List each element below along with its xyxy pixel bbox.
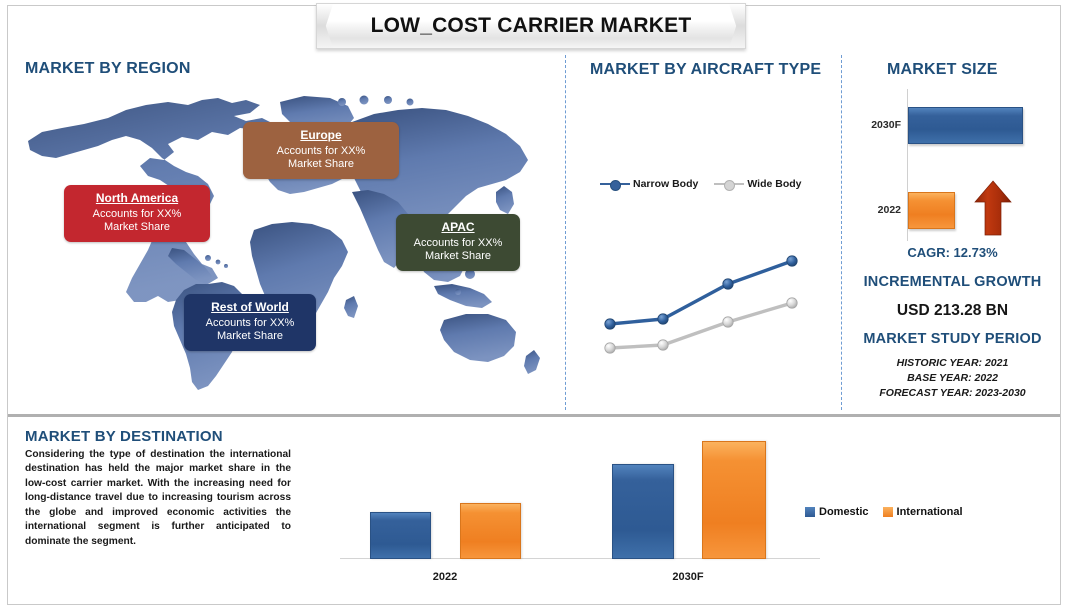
legend-marker-line-icon [600,179,630,189]
section-heading-market-by-aircraft-type: MARKET BY AIRCRAFT TYPE [590,61,821,79]
market-size-bar-label-2030f: 2030F [845,119,901,131]
callout-apac: APAC Accounts for XX% Market Share [396,214,520,271]
section-heading-market-by-destination: MARKET BY DESTINATION [25,428,223,445]
study-period-base-year: BASE YEAR: 2022 [845,372,1060,384]
destination-bar-chart: 2022 2030F [340,432,820,597]
cagr-value: CAGR: 12.73% [845,245,1060,260]
market-size-bar-label-2022: 2022 [845,204,901,216]
callout-line2: Market Share [406,250,510,263]
callout-line1: Accounts for XX% [194,317,306,330]
vertical-divider-right [841,55,842,410]
legend-swatch-icon [805,507,815,517]
destination-category-label-2030f: 2030F [623,571,753,583]
aircraft-chart-legend: Narrow Body Wide Body [600,178,802,190]
callout-line1: Accounts for XX% [406,237,510,250]
study-period-historic-year: HISTORIC YEAR: 2021 [845,357,1060,369]
aircraft-line-plot [570,235,838,365]
legend-marker-line-icon [714,179,744,189]
study-period-forecast-year: FORECAST YEAR: 2023-2030 [845,387,1060,399]
callout-line2: Market Share [194,330,306,343]
destination-bar-2030f-domestic [612,464,674,559]
market-size-bar-2022 [908,192,955,229]
title-banner: LOW_COST CARRIER MARKET [316,3,746,49]
callout-rest-of-world: Rest of World Accounts for XX% Market Sh… [184,294,316,351]
legend-label: Wide Body [747,178,801,190]
legend-label: Domestic [819,506,869,518]
vertical-divider-left [565,55,566,410]
legend-item-international: International [883,506,963,518]
legend-item-wide-body: Wide Body [714,178,801,190]
callout-line2: Market Share [74,221,200,234]
callout-line1: Accounts for XX% [253,145,389,158]
incremental-growth-heading: INCREMENTAL GROWTH [845,274,1060,290]
callout-title: North America [74,191,200,206]
callout-line2: Market Share [253,158,389,171]
destination-category-label-2022: 2022 [380,571,510,583]
callout-north-america: North America Accounts for XX% Market Sh… [64,185,210,242]
market-study-period-heading: MARKET STUDY PERIOD [845,331,1060,347]
destination-bar-2022-domestic [370,512,431,559]
horizontal-divider [8,414,1060,417]
legend-item-domestic: Domestic [805,506,869,518]
incremental-growth-value: USD 213.28 BN [845,302,1060,320]
callout-title: Europe [253,128,389,143]
destination-bar-2030f-international [702,441,766,559]
section-heading-market-size: MARKET SIZE [887,61,998,79]
legend-label: International [897,506,963,518]
legend-swatch-icon [883,507,893,517]
callout-title: APAC [406,220,510,235]
legend-label: Narrow Body [633,178,698,190]
legend-item-narrow-body: Narrow Body [600,178,698,190]
growth-arrow-up-icon [973,180,1013,236]
callout-line1: Accounts for XX% [74,208,200,221]
destination-chart-legend: Domestic International [805,506,963,518]
section-heading-market-by-region: MARKET BY REGION [25,60,191,78]
destination-bar-2022-international [460,503,521,559]
market-size-bar-2030f [908,107,1023,144]
market-by-destination-paragraph: Considering the type of destination the … [25,448,291,549]
callout-europe: Europe Accounts for XX% Market Share [243,122,399,179]
page-title: LOW_COST CARRIER MARKET [371,14,692,38]
callout-title: Rest of World [194,300,306,315]
aircraft-type-chart: Narrow Body Wide Body [570,85,838,405]
market-size-panel: 2030F 2022 CAGR: 12.73% INCREMENTAL GROW… [845,85,1060,405]
infographic-page: LOW_COST CARRIER MARKET MARKET BY REGION [0,0,1068,611]
